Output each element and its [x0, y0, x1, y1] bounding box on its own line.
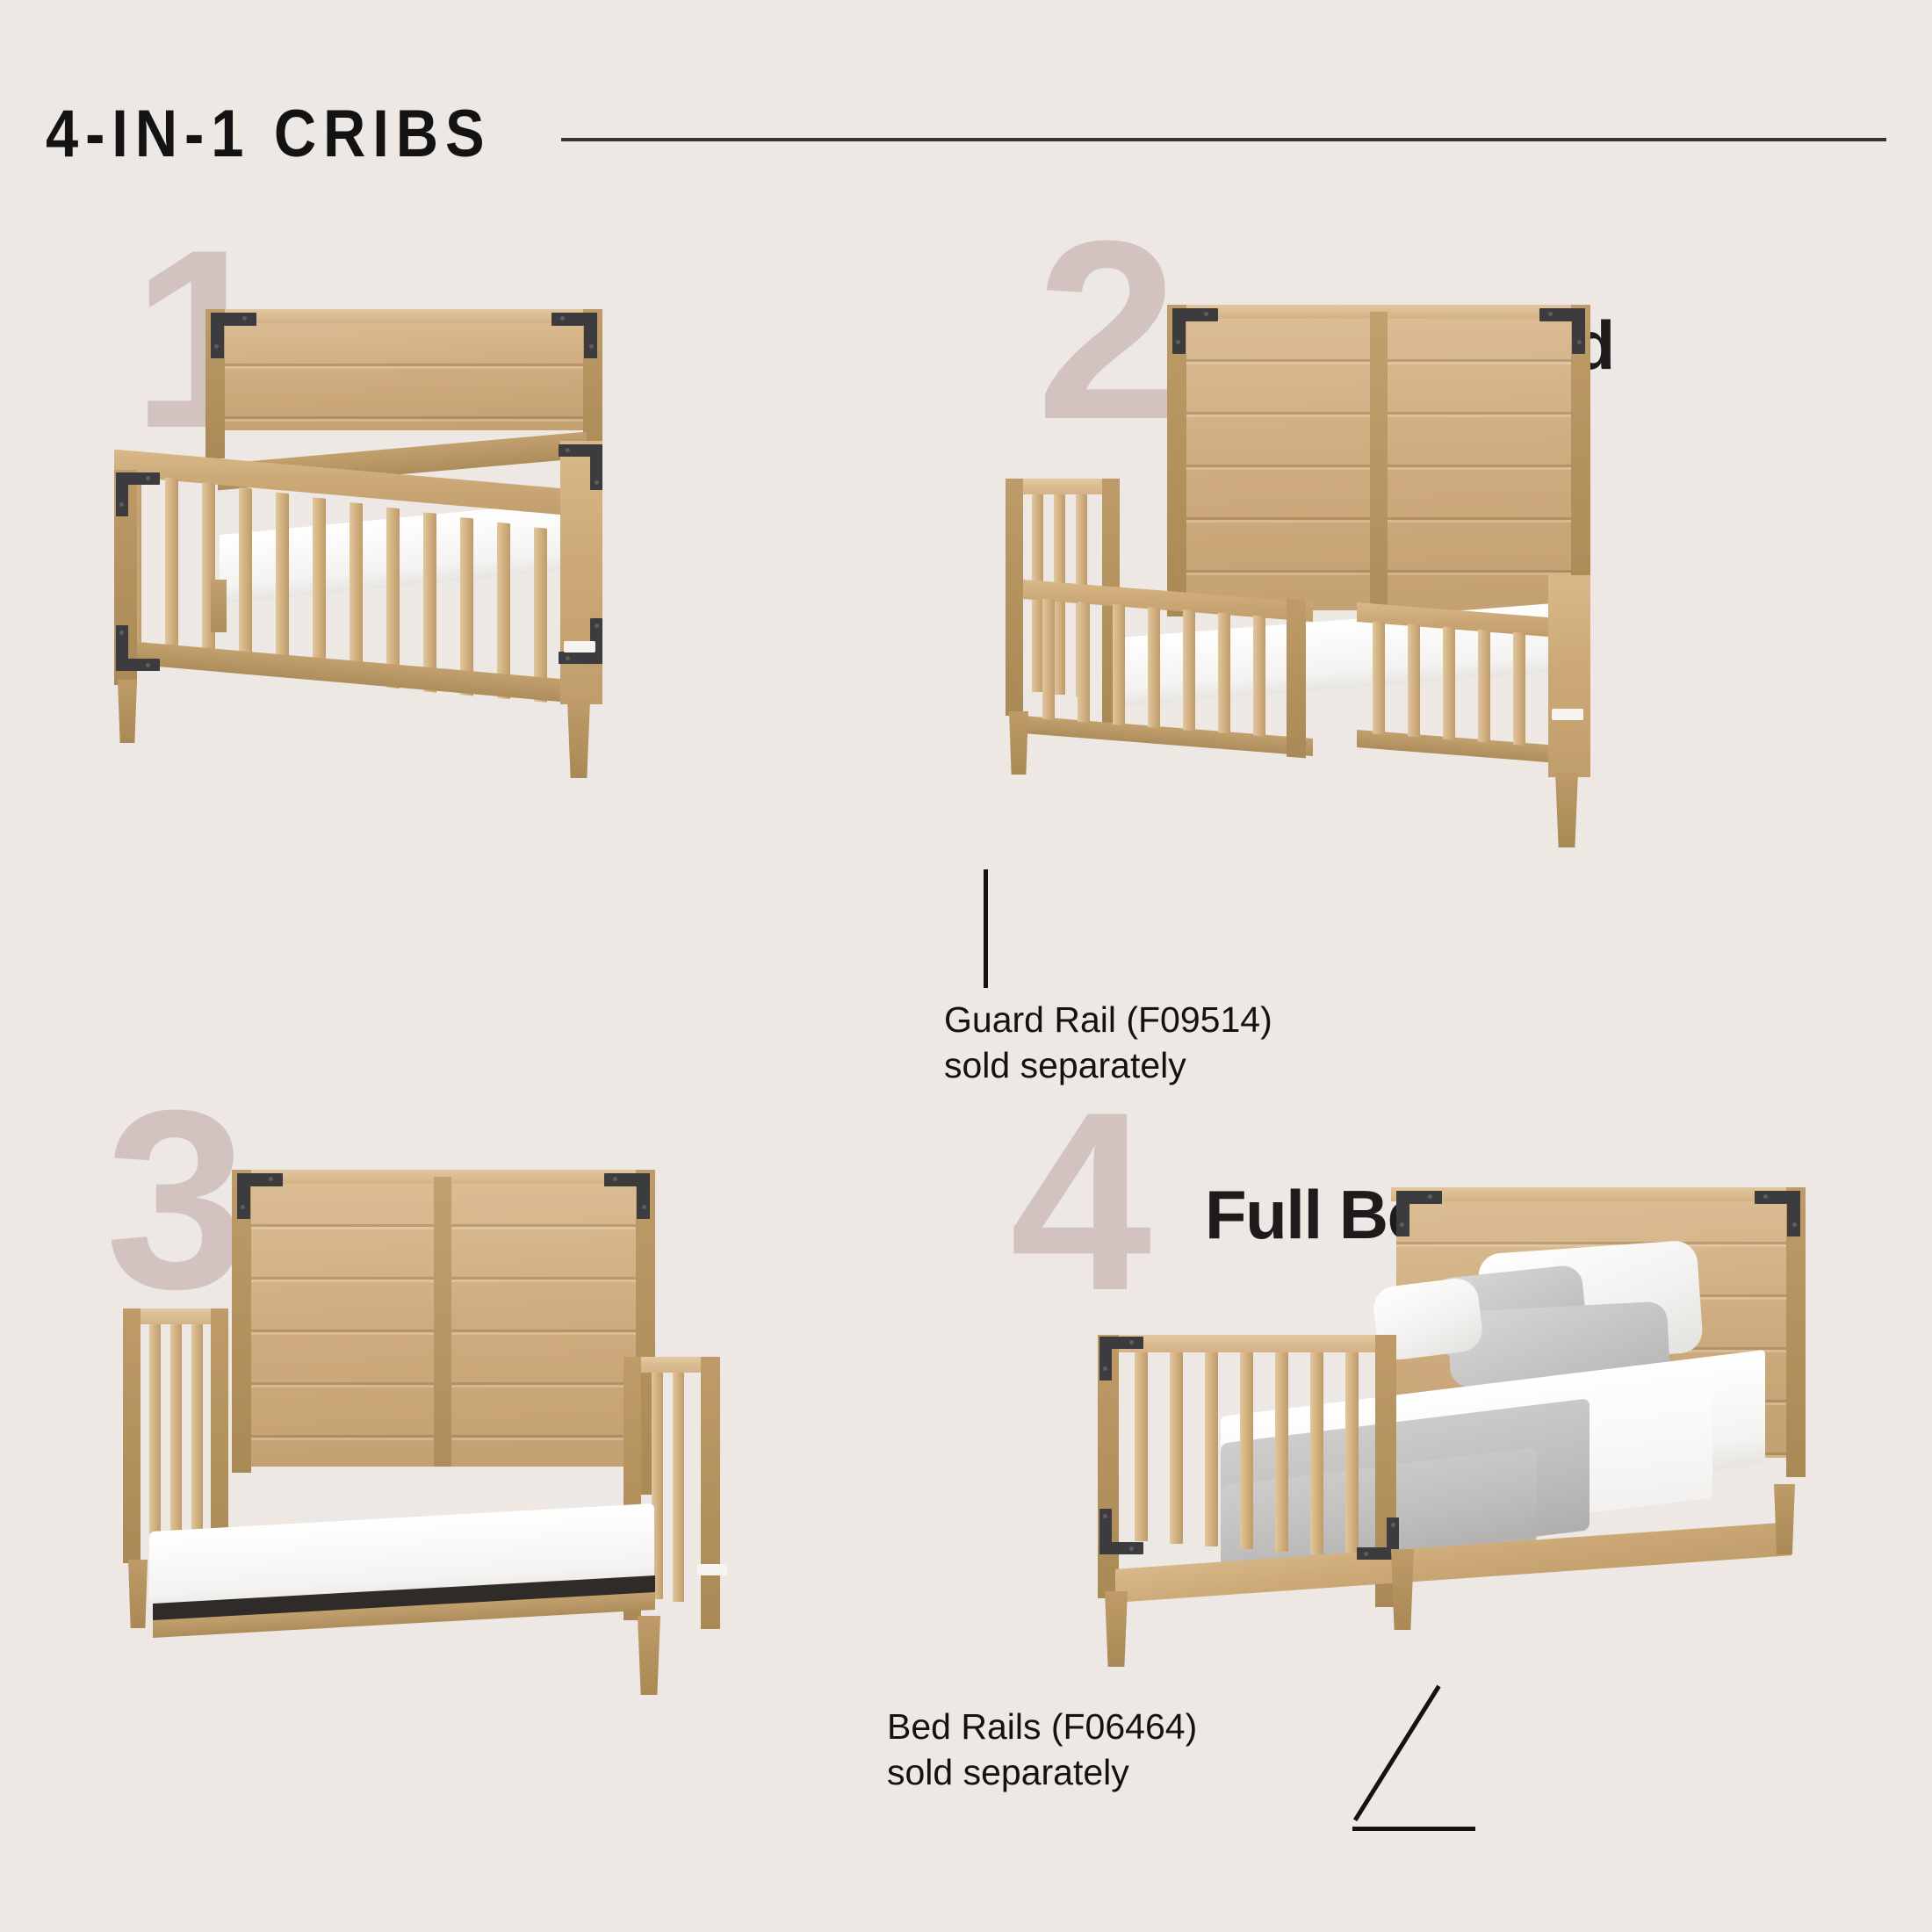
- page-header: 4-IN-1 CRIBS: [46, 95, 1886, 174]
- corner-bracket-fullbed-head-right-icon: [1755, 1191, 1800, 1236]
- daybed-leg-left: [128, 1560, 148, 1628]
- toddler-end-panel-right: [1548, 575, 1590, 777]
- crib-headboard-top-rail: [205, 309, 602, 323]
- corner-bracket-head-right-icon: [551, 313, 597, 358]
- toddler-leg-right: [1555, 772, 1578, 847]
- daybed-end-panel-left: [123, 1308, 228, 1563]
- bed-rails-leader-horizontal: [1352, 1827, 1475, 1831]
- guard-rail-right: [1357, 602, 1559, 763]
- bed-rails-annotation: Bed Rails (F06464) sold separately: [887, 1704, 1326, 1796]
- corner-bracket-daybed-right-icon: [604, 1173, 650, 1219]
- full-bed-illustration: [957, 1194, 1906, 1774]
- corner-bracket-head-left-icon: [211, 313, 256, 358]
- toddler-headboard-center-stile: [1370, 312, 1388, 610]
- fullbed-leg-head: [1391, 1549, 1414, 1630]
- corner-bracket-toddler-head-right-icon: [1539, 308, 1585, 354]
- brand-plate-toddler: [1552, 709, 1583, 720]
- crib-leg-front-left: [118, 680, 137, 743]
- crib-headboard: [211, 316, 597, 430]
- page-title: 4-IN-1 CRIBS: [46, 101, 492, 168]
- toddler-bed-illustration: [1006, 312, 1726, 874]
- fullbed-leg-rear: [1774, 1484, 1795, 1554]
- corner-bracket-fullbed-head-left-icon: [1396, 1191, 1442, 1236]
- toddler-leg-left: [1009, 711, 1028, 775]
- corner-bracket-daybed-left-icon: [237, 1173, 283, 1219]
- panel-toddler-bed: 2 Toddler Bed: [1036, 263, 1853, 1089]
- corner-bracket-toddler-head-left-icon: [1172, 308, 1218, 354]
- panel-crib: 1 Crib: [132, 263, 922, 1054]
- panel-day-bed: 3 Day Bed: [105, 1142, 940, 1932]
- corner-bracket-front-left-lower-icon: [116, 625, 160, 671]
- brand-plate-daybed: [697, 1564, 727, 1575]
- daybed-back-center-stile: [434, 1177, 451, 1467]
- panel-full-bed: 4 Full Bed: [1010, 1142, 1906, 1932]
- corner-bracket-fullbed-foot-bottom-icon: [1099, 1509, 1143, 1554]
- crib-leg-back-left: [211, 580, 227, 632]
- fullbed-leg-foot: [1105, 1591, 1128, 1667]
- header-divider: [561, 138, 1886, 141]
- crib-leg-front-right: [567, 699, 590, 778]
- crib-illustration: [114, 316, 729, 861]
- corner-bracket-front-right-upper-icon: [559, 444, 602, 490]
- guard-rail: [1023, 580, 1313, 756]
- corner-bracket-front-left-upper-icon: [116, 472, 160, 516]
- guard-rail-leader-line: [984, 869, 988, 988]
- fullbed-headboard-top-rail: [1391, 1187, 1806, 1201]
- brand-plate: [564, 641, 595, 652]
- day-bed-illustration: [114, 1177, 852, 1756]
- corner-bracket-fullbed-foot-top-icon: [1099, 1337, 1143, 1381]
- daybed-leg-right: [638, 1616, 660, 1695]
